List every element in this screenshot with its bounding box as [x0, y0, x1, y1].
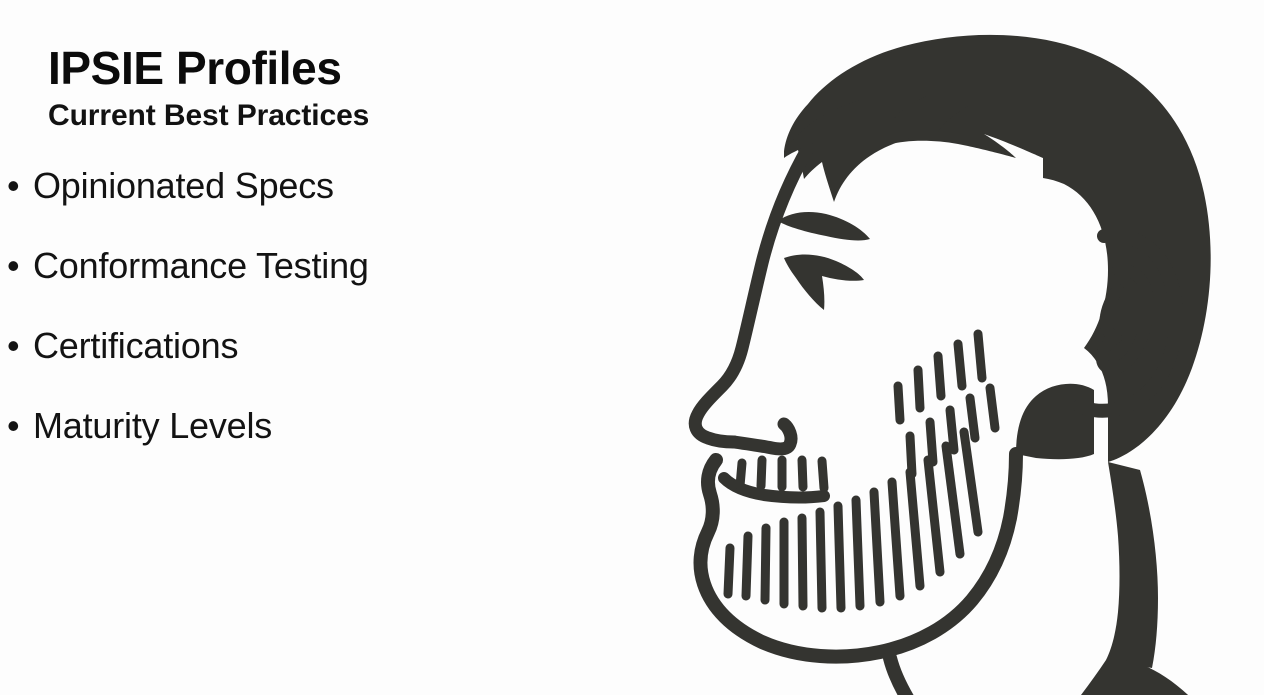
moustache-hatching — [740, 460, 824, 488]
list-item-label: Conformance Testing — [33, 226, 369, 306]
bullet-list: • Opinionated Specs • Conformance Testin… — [7, 146, 567, 466]
list-item: • Conformance Testing — [7, 226, 567, 306]
sideburn-shape — [1016, 384, 1094, 459]
face-profile-outline — [695, 148, 808, 442]
presentation-slide: IPSIE Profiles Current Best Practices • … — [0, 0, 1264, 695]
eye-shape — [784, 254, 864, 310]
list-item-label: Certifications — [33, 306, 238, 386]
shoulders-torso-shape — [746, 659, 1264, 695]
bullet-point-icon: • — [7, 146, 33, 226]
page-subtitle: Current Best Practices — [48, 99, 608, 132]
neck-back-shape — [1106, 462, 1158, 668]
slide-text-column: IPSIE Profiles Current Best Practices — [48, 44, 608, 132]
list-item: • Opinionated Specs — [7, 146, 567, 226]
bullet-point-icon: • — [7, 306, 33, 386]
list-item: • Maturity Levels — [7, 386, 567, 466]
bearded-man-profile-portrait-illustration — [612, 8, 1264, 695]
portrait-ink-group — [695, 35, 1264, 695]
list-item-label: Opinionated Specs — [33, 146, 334, 226]
page-title: IPSIE Profiles — [48, 44, 608, 93]
eyebrow-shape — [778, 212, 870, 240]
list-item-label: Maturity Levels — [33, 386, 272, 466]
nostril-shape — [734, 424, 791, 449]
bullet-point-icon: • — [7, 386, 33, 466]
list-item: • Certifications — [7, 306, 567, 386]
neck-front-line — [890, 658, 932, 695]
bullet-point-icon: • — [7, 226, 33, 306]
